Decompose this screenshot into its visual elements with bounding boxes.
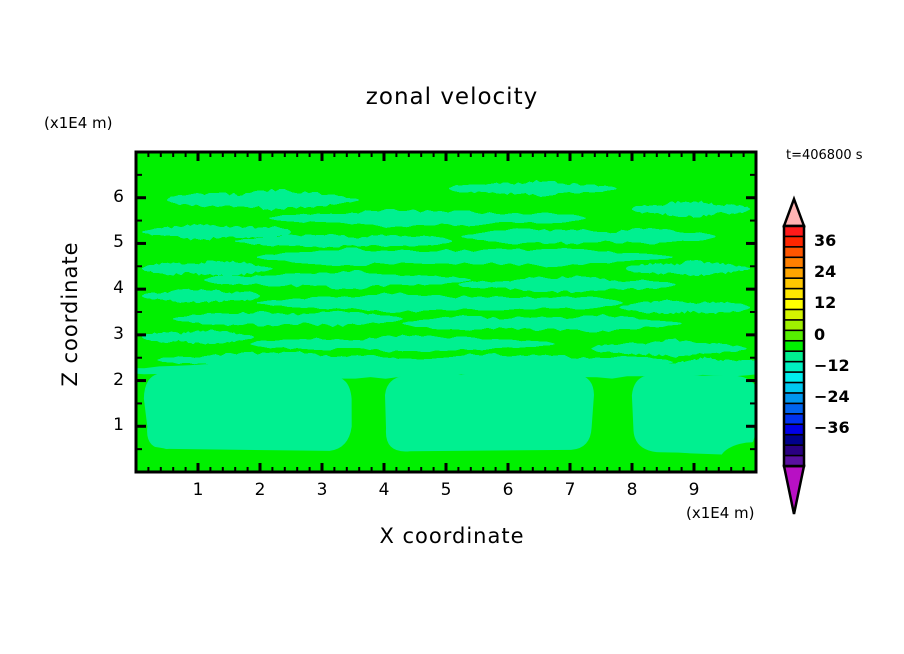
colorbar-band [784, 257, 804, 268]
colorbar-over-arrow [784, 199, 804, 226]
colorbar-tick-label: 24 [814, 262, 836, 281]
colorbar-tick-label: −12 [814, 356, 850, 375]
y-tick-label: 1 [100, 415, 124, 435]
colorbar-band [784, 341, 804, 352]
colorbar-band [784, 403, 804, 414]
plot-svg [0, 0, 904, 654]
x-tick-label: 2 [248, 480, 272, 500]
x-tick-label: 7 [558, 480, 582, 500]
x-tick-label: 5 [434, 480, 458, 500]
colorbar-band [784, 351, 804, 362]
colorbar-band [784, 247, 804, 258]
x-tick-label: 6 [496, 480, 520, 500]
colorbar-band [784, 309, 804, 320]
x-tick-label: 1 [186, 480, 210, 500]
colorbar [784, 199, 804, 514]
colorbar-band [784, 393, 804, 404]
y-tick-label: 4 [100, 278, 124, 298]
colorbar-band [784, 383, 804, 394]
bottom-lobe [90, 446, 189, 484]
y-tick-label: 5 [100, 232, 124, 252]
colorbar-band [784, 414, 804, 425]
x-tick-label: 4 [372, 480, 396, 500]
colorbar-band [784, 445, 804, 456]
colorbar-band [784, 424, 804, 435]
x-tick-label: 9 [682, 480, 706, 500]
colorbar-tick-label: 36 [814, 231, 836, 250]
colorbar-band [784, 372, 804, 383]
colorbar-band [784, 236, 804, 247]
colorbar-band [784, 435, 804, 446]
figure-canvas: zonal velocity (x1E4 m) (x1E4 m) t=40680… [0, 0, 904, 654]
colorbar-tick-label: −36 [814, 418, 850, 437]
velocity-cell [385, 374, 594, 452]
contour-field [90, 152, 794, 488]
velocity-cell [632, 375, 759, 455]
x-tick-label: 8 [620, 480, 644, 500]
colorbar-band [784, 362, 804, 373]
colorbar-band [784, 299, 804, 310]
velocity-cell [144, 373, 352, 451]
colorbar-band [784, 330, 804, 341]
colorbar-under-arrow [784, 466, 804, 514]
y-tick-label: 3 [100, 324, 124, 344]
y-tick-label: 6 [100, 187, 124, 207]
colorbar-tick-label: 12 [814, 293, 836, 312]
colorbar-band [784, 278, 804, 289]
colorbar-band [784, 268, 804, 279]
bottom-lobe [452, 451, 607, 488]
x-tick-label: 3 [310, 480, 334, 500]
colorbar-band [784, 320, 804, 331]
colorbar-band [784, 226, 804, 237]
colorbar-tick-label: −24 [814, 387, 850, 406]
y-tick-label: 2 [100, 370, 124, 390]
colorbar-tick-label: 0 [814, 325, 825, 344]
colorbar-band [784, 289, 804, 300]
